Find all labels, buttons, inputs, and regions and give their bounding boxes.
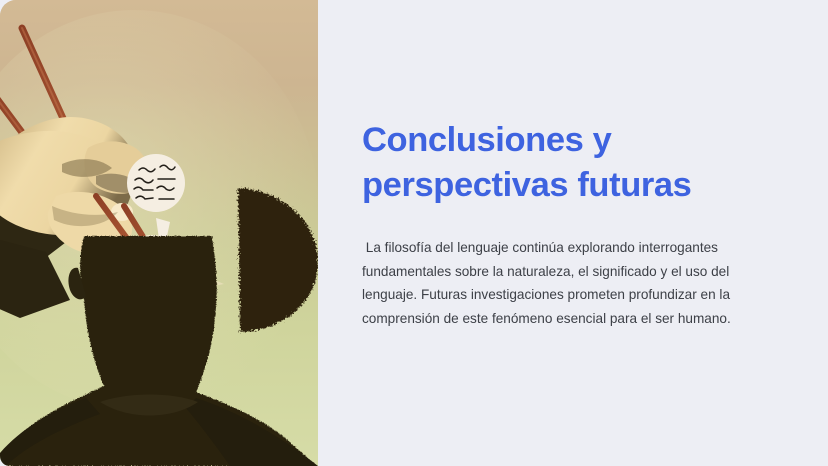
slide: Conclusiones y perspectivas futuras La f… bbox=[0, 0, 828, 466]
page-title: Conclusiones y perspectivas futuras bbox=[362, 118, 742, 208]
body-paragraph: La filosofía del lenguaje continúa explo… bbox=[362, 236, 774, 330]
collage-illustration bbox=[0, 0, 318, 466]
text-column: Conclusiones y perspectivas futuras La f… bbox=[360, 0, 780, 466]
speech-bubble-body bbox=[127, 154, 185, 212]
illustration-panel bbox=[0, 0, 318, 466]
